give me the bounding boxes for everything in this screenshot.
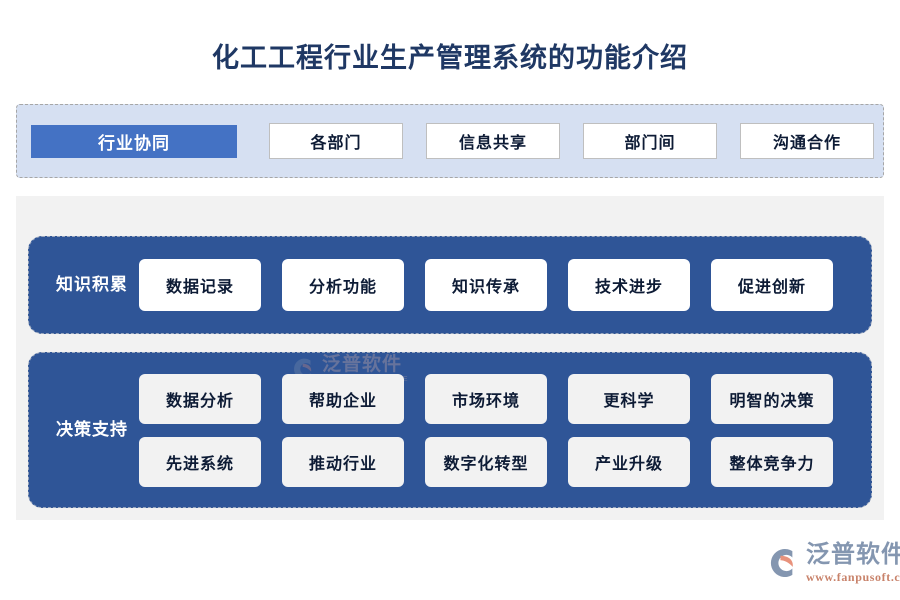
- knowledge-chip-0[interactable]: 数据记录: [139, 259, 261, 311]
- group-decision-label: 决策支持: [45, 420, 139, 440]
- group-knowledge-items: 数据记录 分析功能 知识传承 技术进步 促进创新: [139, 259, 855, 311]
- decision-chip-1[interactable]: 帮助企业: [282, 374, 404, 424]
- watermark-cn: 泛普软件: [322, 355, 409, 374]
- feature-panel: 知识积累 数据记录 分析功能 知识传承 技术进步 促进创新 泛普软件 FANPU…: [16, 196, 884, 520]
- item-row: 数据分析 帮助企业 市场环境 更科学 明智的决策: [139, 374, 855, 424]
- brand-name: 泛普软件: [806, 543, 900, 567]
- brand-text: 泛普软件 www.fanpusoft.com: [806, 543, 900, 583]
- decision-chip-0[interactable]: 数据分析: [139, 374, 261, 424]
- group-knowledge-label: 知识积累: [45, 275, 139, 295]
- group-decision-support: 泛普软件 FANPU SOFTWARE 决策支持 数据分析 帮助企业 市场环境 …: [28, 352, 872, 508]
- collaboration-chip-list: 各部门 信息共享 部门间 沟通合作: [269, 123, 874, 159]
- decision-chip-7[interactable]: 数字化转型: [425, 437, 547, 487]
- group-knowledge-accumulation: 知识积累 数据记录 分析功能 知识传承 技术进步 促进创新: [28, 236, 872, 334]
- item-row: 先进系统 推动行业 数字化转型 产业升级 整体竞争力: [139, 437, 855, 487]
- collaboration-band: 行业协同 各部门 信息共享 部门间 沟通合作: [16, 104, 884, 178]
- collaboration-chip-2[interactable]: 部门间: [583, 123, 717, 159]
- fanpu-logo-icon: [766, 546, 800, 580]
- knowledge-chip-1[interactable]: 分析功能: [282, 259, 404, 311]
- collaboration-chip-0[interactable]: 各部门: [269, 123, 403, 159]
- decision-chip-2[interactable]: 市场环境: [425, 374, 547, 424]
- brand-logo: 泛普软件 www.fanpusoft.com: [766, 543, 900, 583]
- brand-url: www.fanpusoft.com: [806, 571, 900, 583]
- item-row: 数据记录 分析功能 知识传承 技术进步 促进创新: [139, 259, 855, 311]
- collaboration-chip-1[interactable]: 信息共享: [426, 123, 560, 159]
- decision-chip-5[interactable]: 先进系统: [139, 437, 261, 487]
- knowledge-chip-4[interactable]: 促进创新: [711, 259, 833, 311]
- decision-chip-4[interactable]: 明智的决策: [711, 374, 833, 424]
- knowledge-chip-3[interactable]: 技术进步: [568, 259, 690, 311]
- decision-chip-3[interactable]: 更科学: [568, 374, 690, 424]
- collaboration-primary-label[interactable]: 行业协同: [31, 125, 237, 158]
- collaboration-chip-3[interactable]: 沟通合作: [740, 123, 874, 159]
- decision-chip-9[interactable]: 整体竞争力: [711, 437, 833, 487]
- knowledge-chip-2[interactable]: 知识传承: [425, 259, 547, 311]
- page-title: 化工工程行业生产管理系统的功能介绍: [0, 36, 900, 75]
- decision-chip-8[interactable]: 产业升级: [568, 437, 690, 487]
- decision-chip-6[interactable]: 推动行业: [282, 437, 404, 487]
- group-decision-items: 数据分析 帮助企业 市场环境 更科学 明智的决策 先进系统 推动行业 数字化转型…: [139, 374, 855, 487]
